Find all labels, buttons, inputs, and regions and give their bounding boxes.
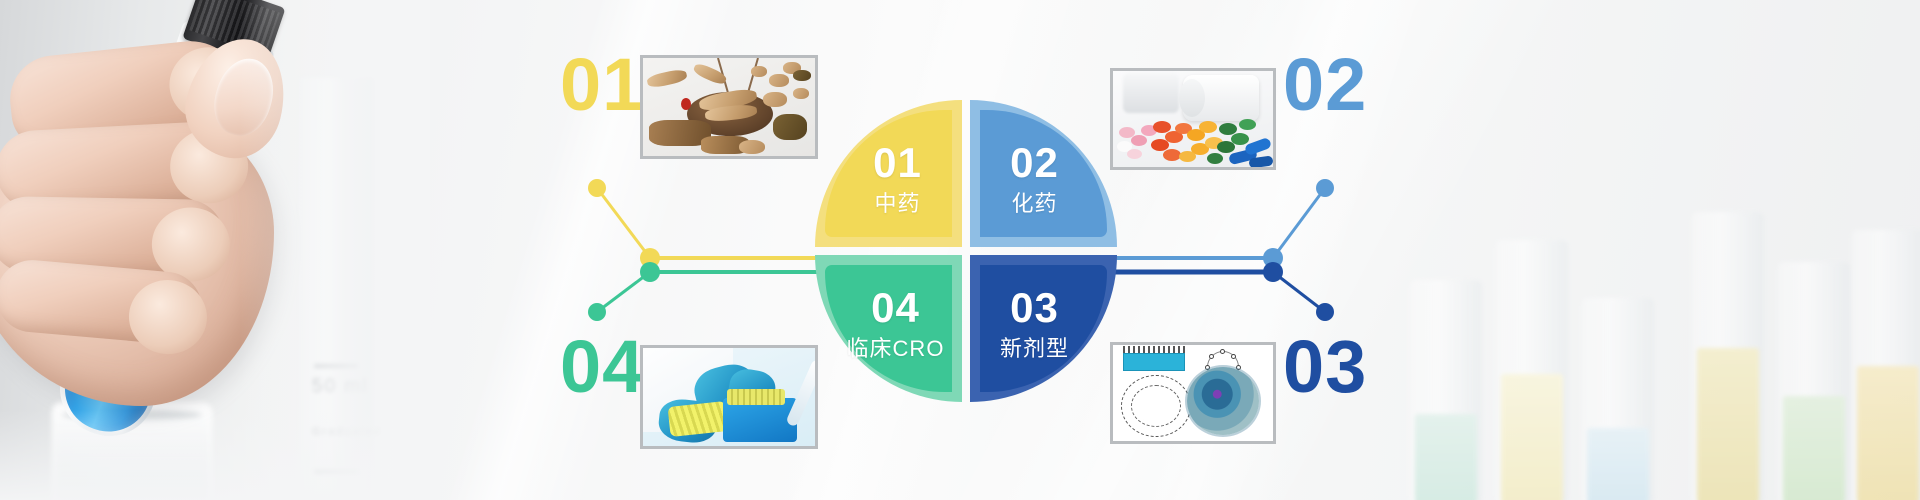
quadrant-03-number: 03	[1000, 287, 1069, 329]
connector-line-yellow	[597, 188, 650, 258]
thumbnail-colorful-pills-and-bottle[interactable]	[1110, 68, 1276, 170]
connector-dot-darkblue-outer	[1316, 303, 1334, 321]
thumbnail-lab-technician-pipette-tips[interactable]	[640, 345, 818, 449]
quadrant-04-label: 临床CRO	[847, 338, 945, 360]
quadrant-01-label: 中药	[873, 193, 922, 215]
thumbnail-liposome-drug-delivery-diagram[interactable]	[1110, 342, 1276, 444]
connector-dot-darkblue-elbow	[1263, 262, 1283, 282]
connector-line-darkblue	[1273, 272, 1325, 312]
four-quadrant-wheel: 01 中药 02 化药 03 新剂型 04 临床CRO	[815, 100, 1117, 402]
test-tube-rack-photo	[1400, 0, 1920, 500]
connector-dot-green-elbow	[640, 262, 660, 282]
quadrant-02-label: 化药	[1010, 193, 1059, 215]
side-number-03: 03	[1283, 330, 1367, 404]
quadrant-02-number: 02	[1010, 142, 1059, 184]
quadrant-04-clinical-cro[interactable]: 04 临床CRO	[815, 255, 962, 402]
side-number-04: 04	[560, 330, 644, 404]
side-number-02: 02	[1283, 48, 1367, 122]
connector-dot-yellow-elbow	[640, 248, 660, 268]
quadrant-03-new-dosage-form[interactable]: 03 新剂型	[970, 255, 1117, 402]
side-number-01: 01	[560, 48, 644, 122]
banner-stage: 50 ml Graduated	[0, 0, 1920, 500]
thumbnail-traditional-chinese-medicine-herbs[interactable]	[640, 55, 818, 159]
connector-dot-lightblue-elbow	[1263, 248, 1283, 268]
connector-dot-lightblue-outer	[1316, 179, 1334, 197]
photo-bottom-fade	[0, 410, 430, 500]
quadrant-01-number: 01	[873, 142, 922, 184]
quadrant-01-chinese-medicine[interactable]: 01 中药	[815, 100, 962, 247]
quadrant-03-label: 新剂型	[1000, 338, 1069, 360]
connector-line-lightblue	[1273, 188, 1325, 258]
connector-dot-yellow-outer	[588, 179, 606, 197]
quadrant-04-number: 04	[847, 287, 945, 329]
connector-dot-green-outer	[588, 303, 606, 321]
quadrant-02-chemical-drugs[interactable]: 02 化药	[970, 100, 1117, 247]
connector-line-green	[597, 272, 650, 312]
hand-test-tube-photo: 50 ml Graduated	[0, 0, 430, 500]
